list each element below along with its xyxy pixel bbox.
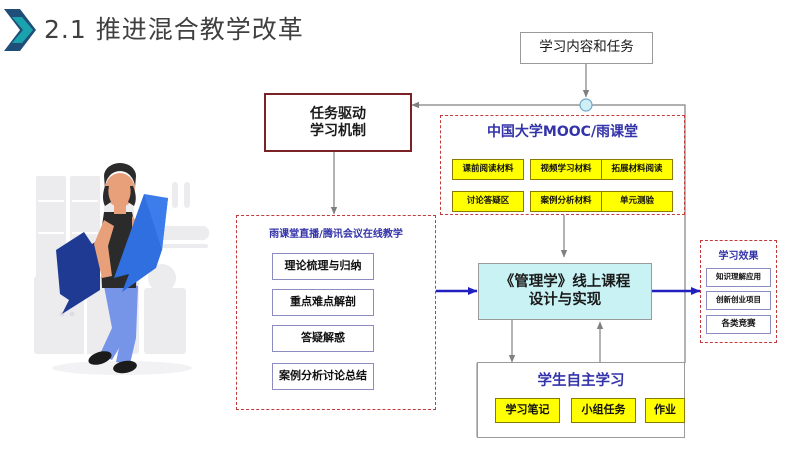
learning-effect-item-1[interactable]: 创新创业项目	[706, 291, 771, 310]
mooc-item-3[interactable]: 讨论答疑区	[452, 191, 524, 212]
live-teaching-item-1-label: 重点难点解剖	[290, 296, 356, 309]
node-learning-content-label: 学习内容和任务	[539, 40, 634, 56]
header-divider	[0, 63, 799, 64]
live-teaching-item-0[interactable]: 理论梳理与归纳	[272, 253, 374, 280]
group-live-teaching-title: 雨课堂直播/腾讯会议在线教学	[237, 225, 435, 240]
mooc-item-0[interactable]: 课前阅读材料	[452, 159, 524, 180]
self-study-item-0[interactable]: 学习笔记	[495, 398, 560, 423]
node-task-driven-line1: 任务驱动	[310, 106, 366, 123]
slide-canvas: 2.1 推进混合教学改革	[0, 0, 799, 450]
group-learning-effect-title: 学习效果	[701, 247, 776, 262]
self-study-item-1-label: 小组任务	[582, 404, 626, 417]
self-study-item-1[interactable]: 小组任务	[571, 398, 636, 423]
mooc-item-1-label: 视频学习材料	[540, 164, 591, 174]
mooc-item-3-label: 讨论答疑区	[467, 196, 510, 206]
node-task-driven-mechanism[interactable]: 任务驱动 学习机制	[264, 93, 412, 152]
live-teaching-item-3-label: 案例分析讨论总结	[279, 370, 367, 383]
node-course-design[interactable]: 《管理学》线上课程 设计与实现	[478, 263, 652, 320]
mooc-item-1[interactable]: 视频学习材料	[530, 159, 602, 180]
node-course-design-line2: 设计与实现	[529, 292, 602, 309]
group-self-study-title: 学生自主学习	[478, 369, 684, 390]
logo-icon	[4, 7, 38, 53]
self-study-item-0-label: 学习笔记	[506, 404, 550, 417]
mooc-item-0-label: 课前阅读材料	[462, 164, 513, 174]
learning-effect-item-1-label: 创新创业项目	[716, 296, 761, 305]
self-study-item-2-label: 作业	[654, 404, 676, 417]
node-task-driven-line2: 学习机制	[310, 123, 366, 140]
mooc-item-4-label: 案例分析材料	[540, 196, 591, 206]
node-learning-content[interactable]: 学习内容和任务	[520, 32, 653, 64]
live-teaching-item-2[interactable]: 答疑解惑	[272, 325, 374, 352]
mooc-item-2[interactable]: 拓展材料阅读	[601, 159, 673, 180]
live-teaching-item-2-label: 答疑解惑	[301, 332, 345, 345]
node-course-design-line1: 《管理学》线上课程	[500, 274, 631, 291]
learning-effect-item-2-label: 各类竞赛	[721, 319, 755, 329]
live-teaching-item-1[interactable]: 重点难点解剖	[272, 289, 374, 316]
mooc-item-5-label: 单元测验	[620, 196, 654, 206]
group-mooc-title: 中国大学MOOC/雨课堂	[441, 121, 684, 141]
live-teaching-item-0-label: 理论梳理与归纳	[285, 260, 362, 273]
mooc-item-5[interactable]: 单元测验	[601, 191, 673, 212]
mooc-item-4[interactable]: 案例分析材料	[530, 191, 602, 212]
learning-effect-item-2[interactable]: 各类竞赛	[706, 315, 771, 334]
learning-effect-item-0[interactable]: 知识理解应用	[706, 268, 771, 287]
live-teaching-item-3[interactable]: 案例分析讨论总结	[272, 363, 374, 390]
self-study-item-2[interactable]: 作业	[645, 398, 685, 423]
page-title: 2.1 推进混合教学改革	[44, 10, 304, 46]
mooc-item-2-label: 拓展材料阅读	[611, 164, 662, 174]
woman-holding-growth-arrows-illustration	[26, 158, 226, 408]
learning-effect-item-0-label: 知识理解应用	[716, 273, 761, 282]
